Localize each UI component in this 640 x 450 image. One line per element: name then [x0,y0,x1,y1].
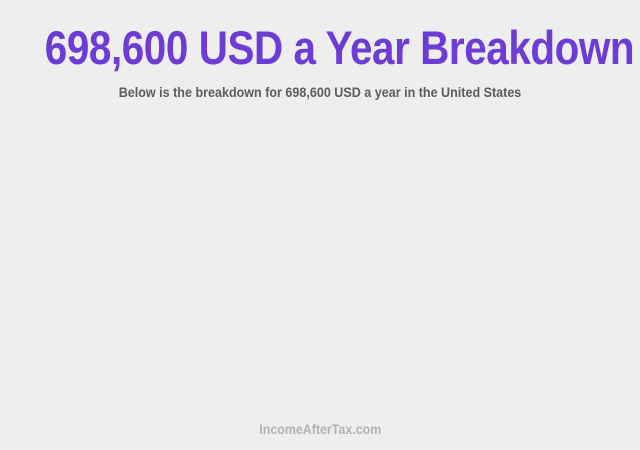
breakdown-page: 698,600 USD a Year Breakdown Below is th… [0,0,640,450]
page-footer: IncomeAfterTax.com [0,421,640,439]
page-title: 698,600 USD a Year Breakdown [45,22,595,74]
page-subtitle: Below is the breakdown for 698,600 USD a… [22,84,617,102]
footer-brand-label: IncomeAfterTax.com [259,421,381,438]
breakdown-content-area [0,112,640,412]
